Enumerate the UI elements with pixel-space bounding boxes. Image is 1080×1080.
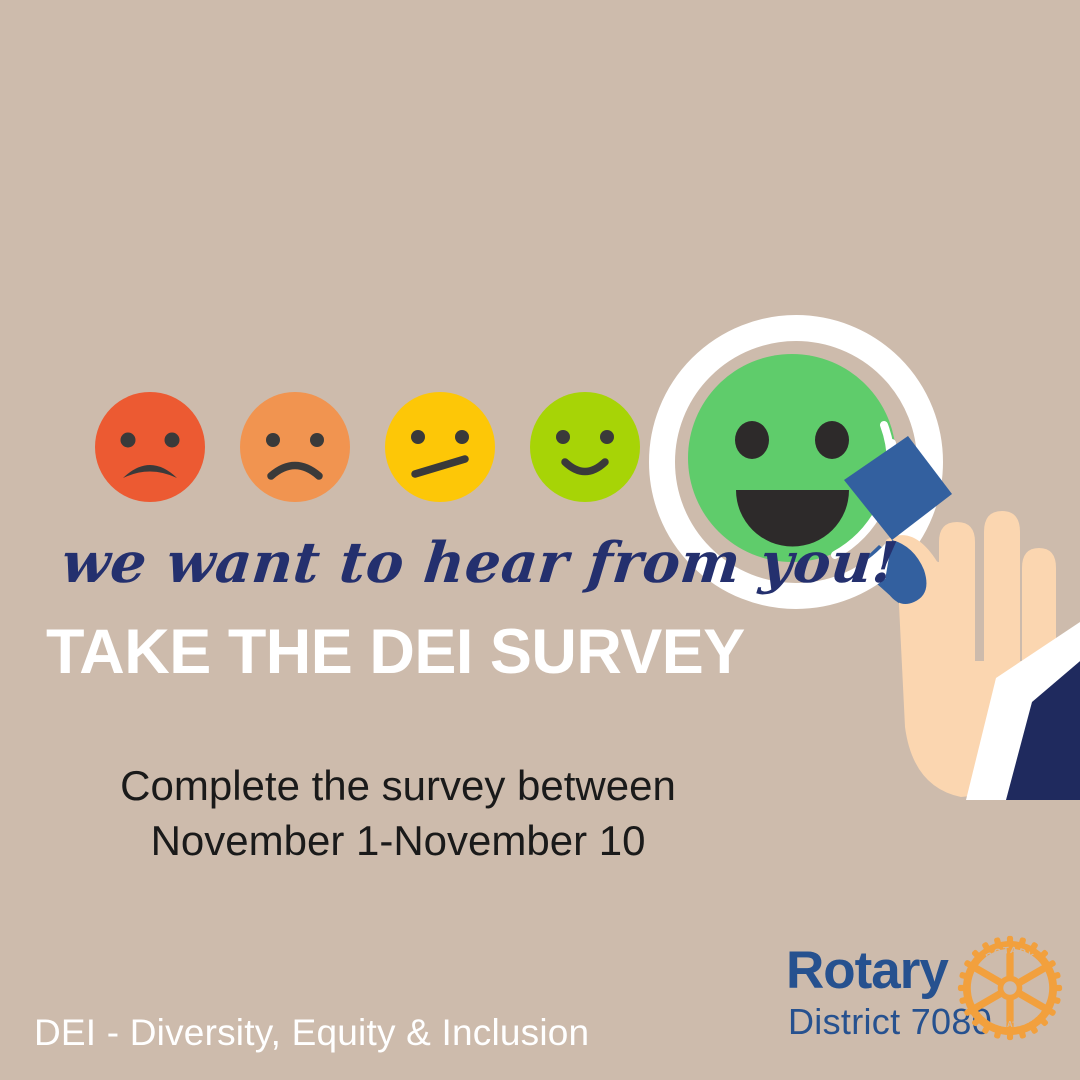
script-tagline: we want to hear from you!: [59, 534, 705, 593]
dei-definition-footer: DEI - Diversity, Equity & Inclusion: [34, 1012, 589, 1054]
survey-dates-line-2: November 1-November 10: [28, 813, 768, 868]
face-unhappy-icon: [240, 392, 350, 502]
survey-dates-line-1: Complete the survey between: [28, 758, 768, 813]
rotary-wordmark: Rotary: [786, 944, 948, 997]
satisfaction-face-scale: [95, 392, 655, 504]
hand-holding-magnifier: [856, 470, 1080, 800]
survey-dates-text: Complete the survey between November 1-N…: [28, 758, 768, 869]
face-very-unhappy-icon: [95, 392, 205, 502]
dei-survey-poster: we want to hear from you! TAKE THE DEI S…: [0, 0, 1080, 1080]
face-happy-icon: [530, 392, 640, 502]
page-title: TAKE THE DEI SURVEY: [46, 618, 706, 687]
rotary-wheel-icon: ROTARY INTERNATIONAL: [954, 932, 1066, 1044]
rotary-logo-lockup: Rotary District 7080: [786, 938, 1070, 1058]
face-neutral-icon: [385, 392, 495, 502]
